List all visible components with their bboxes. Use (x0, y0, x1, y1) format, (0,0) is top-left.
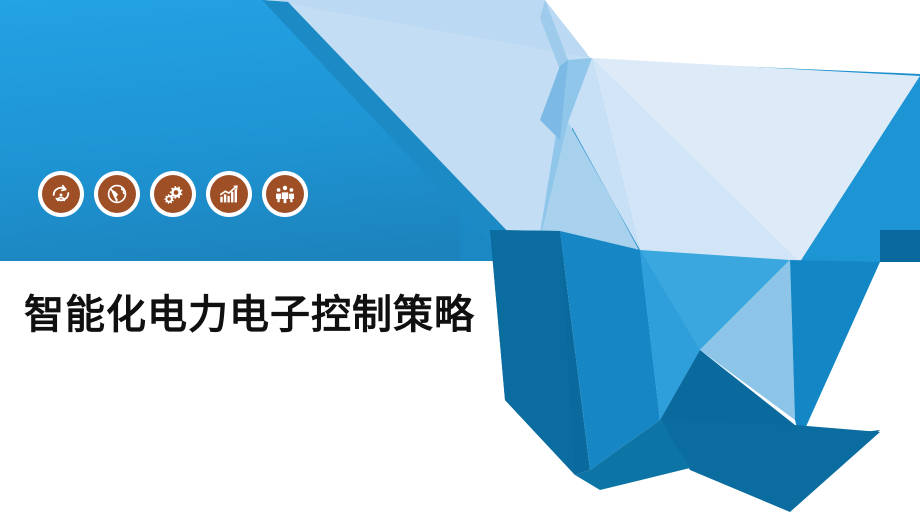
tagline-text: 数智创新 变革未来 (715, 27, 898, 48)
poly-corner-dark (880, 230, 920, 262)
gears-icon (154, 175, 192, 213)
poly-lower-right-outer (790, 260, 880, 440)
globe-glyph (106, 183, 128, 205)
icon-row (38, 171, 308, 217)
icon-badge-globe[interactable] (94, 171, 140, 217)
icon-badge-chart[interactable] (206, 171, 252, 217)
gears-glyph (162, 183, 184, 205)
poly-bottom-arm-2 (660, 420, 880, 512)
icon-badge-gears[interactable] (150, 171, 196, 217)
page-title: 智能化电力电子控制策略 (24, 293, 475, 337)
background-geometry (0, 0, 920, 518)
recycle-person-glyph (50, 183, 72, 205)
people-group-icon (266, 175, 304, 213)
recycle-person-icon (42, 175, 80, 213)
bar-chart-growth-glyph (218, 183, 240, 205)
people-group-glyph (274, 183, 296, 205)
icon-badge-people[interactable] (262, 171, 308, 217)
globe-icon (98, 175, 136, 213)
bar-chart-growth-icon (210, 175, 248, 213)
icon-badge-recycle[interactable] (38, 171, 84, 217)
slide-canvas: 数智创新 变革未来 (0, 0, 920, 518)
